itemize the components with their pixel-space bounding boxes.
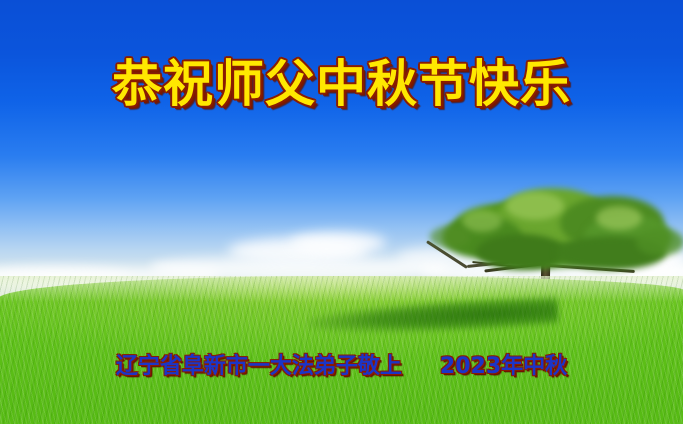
canopy-highlight-3 xyxy=(462,210,502,232)
grass-texture xyxy=(0,276,683,424)
canopy-sparse-left xyxy=(430,226,470,248)
canopy-highlight-1 xyxy=(506,192,564,220)
signature-date: 2023年中秋 xyxy=(440,354,567,379)
canopy-blob-bottom-left xyxy=(476,234,566,270)
canopy-sparse-right xyxy=(636,228,683,256)
grass-field xyxy=(0,276,683,424)
greeting-poster: 恭祝师父中秋节快乐 辽宁省阜新市一大法弟子敬上2023年中秋 xyxy=(0,0,683,424)
canopy-highlight-2 xyxy=(596,206,642,230)
signature-line: 辽宁省阜新市一大法弟子敬上2023年中秋 xyxy=(0,352,683,382)
page-title: 恭祝师父中秋节快乐 xyxy=(0,55,683,113)
signature-text: 辽宁省阜新市一大法弟子敬上 xyxy=(116,354,402,379)
